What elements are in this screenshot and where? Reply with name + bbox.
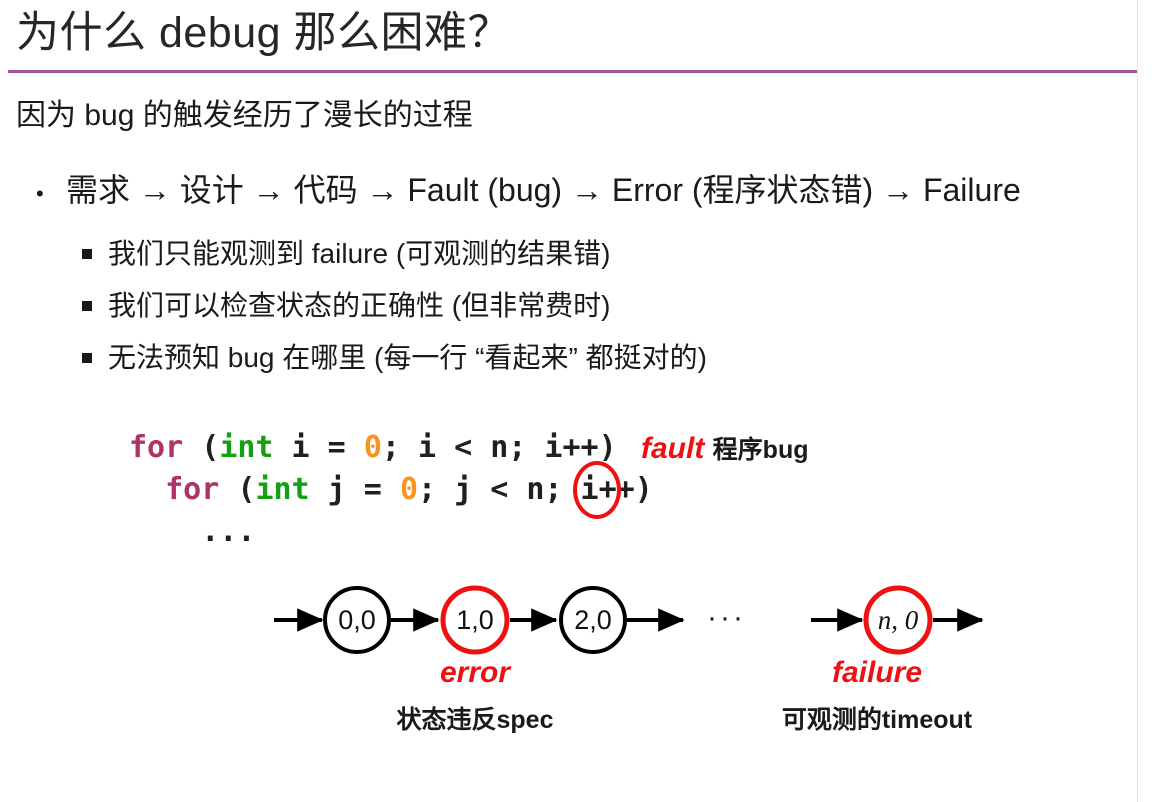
title-underline-rule <box>8 70 1137 73</box>
bullet-level1-text: 需求 → 设计 → 代码 → Fault (bug) → Error (程序状态… <box>66 168 1021 212</box>
sub-bullet-text: 无法预知 bug 在哪里 (每一行 “看起来” 都挺对的) <box>108 332 707 384</box>
error-label: error <box>405 656 545 690</box>
code-highlight-circle <box>573 461 621 519</box>
page-title: 为什么 debug 那么困难？ <box>16 4 1116 62</box>
code-number: 0 <box>400 472 418 507</box>
lead-paragraph: 因为 bug 的触发经历了漫长的过程 <box>16 96 473 136</box>
failure-label-zh: 可观测的timeout <box>757 700 997 736</box>
failure-label: failure <box>797 656 957 690</box>
code-keyword-for: for <box>129 430 183 465</box>
bullet-square-icon <box>82 301 108 311</box>
fault-label-zh: 程序bug <box>713 436 809 464</box>
code-type-int: int <box>255 472 309 507</box>
svg-text:2,0: 2,0 <box>574 605 612 635</box>
code-type-int: int <box>219 430 273 465</box>
code-number: 0 <box>364 430 382 465</box>
sub-bullet-text: 我们可以检查状态的正确性 (但非常费时) <box>108 280 610 332</box>
code-condition: ; i < n; i++) <box>382 430 617 465</box>
code-var-init: j = <box>310 472 400 507</box>
list-item: 无法预知 bug 在哪里 (每一行 “看起来” 都挺对的) <box>82 332 1082 384</box>
bullet-dot-icon: • <box>36 172 66 216</box>
slide-canvas: 为什么 debug 那么困难？ 因为 bug 的触发经历了漫长的过程 • 需求 … <box>0 0 1154 802</box>
code-ellipsis: ... <box>129 514 255 549</box>
code-punctuation: ( <box>183 430 219 465</box>
sub-bullet-text: 我们只能观测到 failure (可观测的结果错) <box>108 228 610 280</box>
bullet-square-icon <box>82 353 108 363</box>
svg-text:n, 0: n, 0 <box>878 605 919 635</box>
code-indent <box>129 472 165 507</box>
page-edge-divider <box>1137 0 1138 802</box>
bullet-square-icon <box>82 249 108 259</box>
diagram-ellipsis: ··· <box>707 598 746 638</box>
code-keyword-for: for <box>165 472 219 507</box>
error-label-zh: 状态违反spec <box>375 700 575 736</box>
svg-text:0,0: 0,0 <box>338 605 376 635</box>
list-item: 我们只能观测到 failure (可观测的结果错) <box>82 228 1082 280</box>
fault-label: fault <box>641 432 704 465</box>
bullet-level1: • 需求 → 设计 → 代码 → Fault (bug) → Error (程序… <box>36 168 1021 216</box>
svg-text:1,0: 1,0 <box>456 605 494 635</box>
sub-bullet-list: 我们只能观测到 failure (可观测的结果错) 我们可以检查状态的正确性 (… <box>82 228 1082 384</box>
code-punctuation: ( <box>219 472 255 507</box>
fault-annotation: fault 程序bug <box>641 430 809 469</box>
code-var-init: i = <box>274 430 364 465</box>
list-item: 我们可以检查状态的正确性 (但非常费时) <box>82 280 1082 332</box>
